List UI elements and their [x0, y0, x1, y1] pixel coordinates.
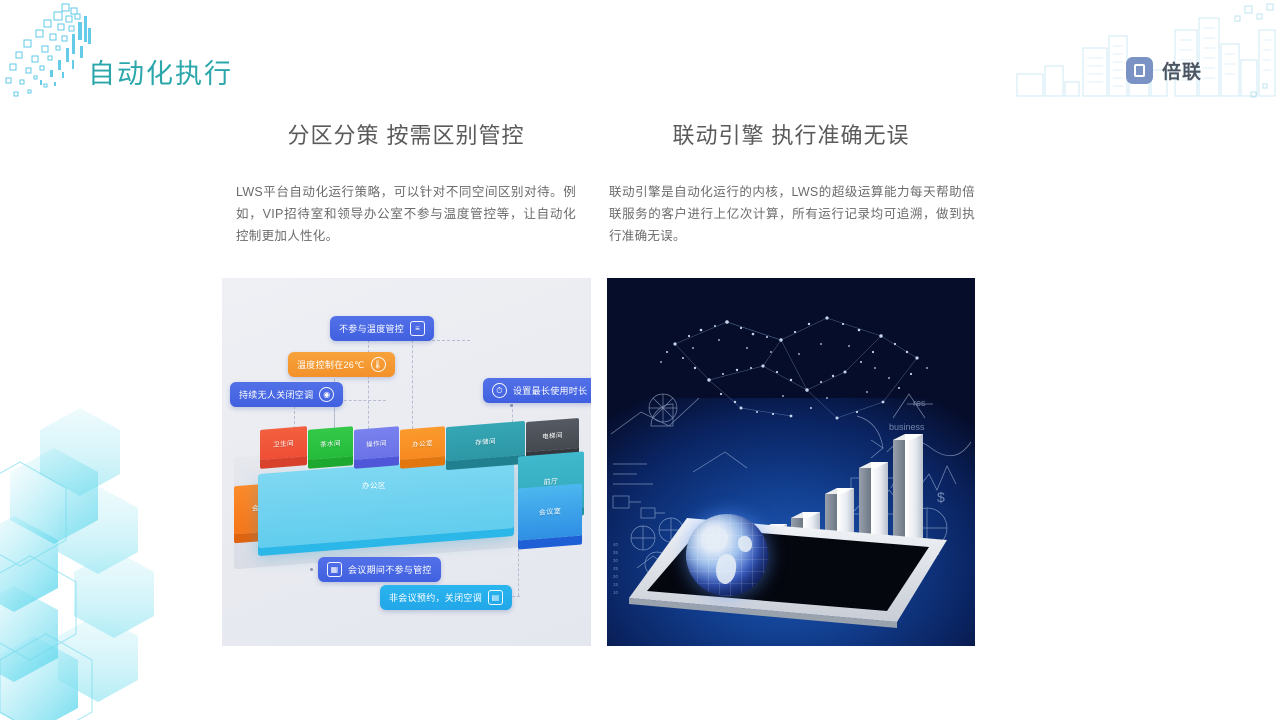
room-block-office: 办公室	[400, 426, 445, 460]
column-heading-left: 分区分策 按需区别管控	[222, 118, 590, 150]
callout-label: 不参与温度管控	[339, 322, 404, 335]
room-block-wc: 卫生间	[260, 426, 307, 460]
brand-name: 倍联	[1162, 57, 1202, 84]
callout-label: 非会议预约，关闭空调	[389, 591, 482, 604]
svg-text:10: 10	[613, 590, 618, 595]
motion-sensor-icon: ◉	[319, 387, 334, 402]
meeting-room-icon: ▦	[327, 562, 342, 577]
room-block-storage: 存储间	[446, 421, 525, 461]
sketch-annotation-res: res	[913, 398, 926, 408]
leader-dot	[510, 404, 513, 407]
logo-inner-square	[1134, 64, 1145, 77]
city-skyline-decoration-icon	[1005, 0, 1280, 108]
timer-icon: ⏱	[492, 383, 507, 398]
sketch-annotation-dollar: $	[937, 489, 945, 505]
callout-no-reservation-ac-off: 非会议预约，关闭空调 ▤	[380, 585, 512, 610]
globe-grid	[686, 514, 768, 596]
content-column-left: 分区分策 按需区别管控 LWS平台自动化运行策略，可以针对不同空间区别对待。例如…	[222, 118, 590, 248]
room-block-tea: 茶水间	[308, 426, 353, 460]
thermometer-icon: 🌡	[371, 357, 386, 372]
svg-text:15: 15	[613, 582, 618, 587]
page-title: 自动化执行	[88, 52, 233, 91]
room-block-meeting: 会议室	[518, 483, 582, 540]
brand-logo: 倍联	[1126, 57, 1202, 84]
svg-text:20: 20	[613, 574, 618, 579]
svg-text:30: 30	[613, 558, 618, 563]
hexagon-pattern-decoration-icon	[0, 360, 165, 720]
callout-unmanned-ac-off: 持续无人关闭空调 ◉	[230, 382, 343, 407]
room-block-elevator: 电梯间	[526, 418, 579, 452]
tablet-device-icon	[621, 512, 951, 632]
callout-label: 温度控制在26℃	[297, 358, 365, 371]
calendar-icon: ▤	[488, 590, 503, 605]
floor-plan-illustration: 会议室 办公区 卫生间 茶水间 操作间 办公室 存储间 电梯间 前厅 会议室 不…	[222, 278, 591, 646]
column-body-right: 联动引擎是自动化运行的内核，LWS的超级运算能力每天帮助倍联服务的客户进行上亿次…	[607, 182, 975, 248]
slide-canvas: 自动化执行 倍联 分区分策 按需区别管控 LWS平台自动化运行策略，可以针对不同…	[0, 0, 1280, 720]
svg-text:35: 35	[613, 550, 618, 555]
svg-text:40: 40	[613, 542, 618, 547]
analytics-illustration: res business $ 403530 252015 10	[607, 278, 975, 646]
column-body-left: LWS平台自动化运行策略，可以针对不同空间区别对待。例如，VIP招待室和领导办公…	[222, 182, 590, 248]
room-block-operation: 操作间	[354, 426, 399, 460]
main-area-label: 办公区	[362, 480, 386, 491]
callout-label: 会议期间不参与管控	[348, 563, 432, 576]
callout-label: 设置最长使用时长	[513, 384, 587, 397]
globe-icon	[686, 514, 768, 596]
column-heading-right: 联动引擎 执行准确无误	[607, 118, 975, 150]
content-column-right: 联动引擎 执行准确无误 联动引擎是自动化运行的内核，LWS的超级运算能力每天帮助…	[607, 118, 975, 248]
callout-temperature-26: 温度控制在26℃ 🌡	[288, 352, 395, 377]
callout-meeting-exempt: ▦ 会议期间不参与管控	[318, 557, 441, 582]
callout-no-temperature-control: 不参与温度管控 ≡	[330, 316, 434, 341]
callout-max-usage-time: ⏱ 设置最长使用时长	[483, 378, 591, 403]
svg-text:25: 25	[613, 566, 618, 571]
list-panel-icon: ≡	[410, 321, 425, 336]
leader-dot	[310, 568, 313, 571]
rounded-square-logo-icon	[1126, 57, 1153, 84]
callout-label: 持续无人关闭空调	[239, 388, 313, 401]
